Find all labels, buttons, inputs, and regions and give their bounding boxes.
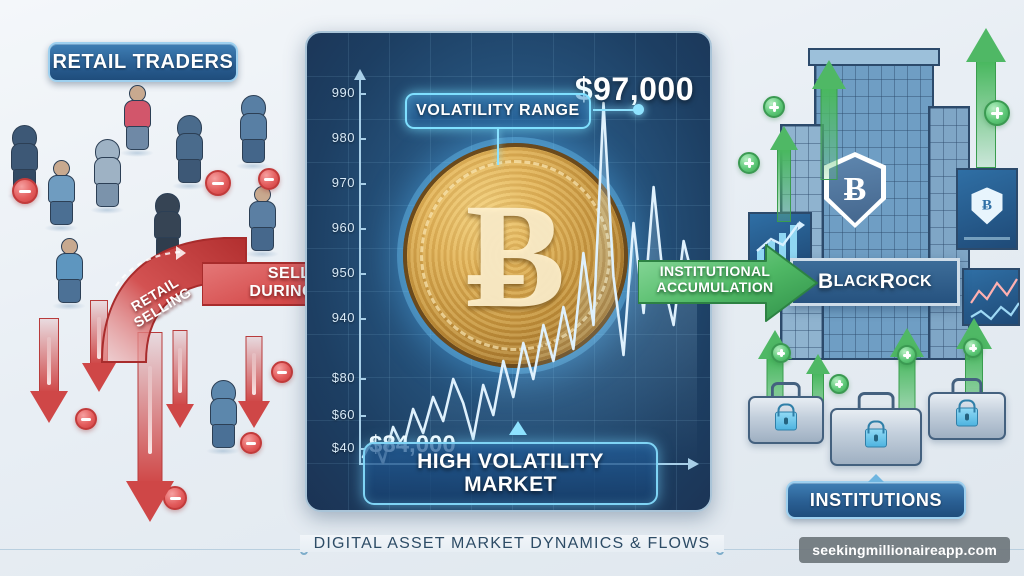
up-arrow-icon	[812, 60, 846, 180]
person-legs	[178, 159, 201, 183]
chart-y-axis	[359, 79, 361, 463]
y-axis-tick-label: 970	[313, 175, 355, 190]
bitcoin-shield-screen-glyph: Ƀ	[972, 187, 1003, 224]
infographic-canvas: RETAIL TRADERS RETAILSELLING	[0, 0, 1024, 576]
volatility-range-callout: VOLATILITY RANGE	[405, 93, 591, 129]
plus-glyph-v	[748, 158, 751, 168]
minus-badge-icon	[205, 170, 231, 196]
plus-glyph-v	[972, 344, 975, 353]
person-shadow	[206, 447, 240, 455]
up-arrow-icon	[770, 126, 798, 222]
plus-glyph-v	[838, 380, 841, 389]
grid-line-horizontal	[307, 377, 712, 378]
blackrock-r: R	[880, 270, 896, 294]
minus-badge-icon	[240, 432, 262, 454]
person-shadow	[52, 302, 86, 310]
person-body	[56, 253, 83, 281]
y-axis-tick-label: 940	[313, 310, 355, 325]
person-icon	[172, 118, 206, 186]
minus-badge-icon	[258, 168, 280, 190]
high-volatility-pointer	[509, 421, 527, 435]
person-body	[176, 133, 203, 161]
y-axis-tick-label: 990	[313, 85, 355, 100]
y-axis-tick-mark	[359, 228, 366, 230]
up-arrow-icon	[966, 28, 1006, 168]
person-body	[240, 113, 267, 141]
person-icon	[206, 383, 240, 451]
padlock-icon	[956, 407, 978, 426]
minus-glyph	[212, 182, 224, 185]
person-legs	[58, 279, 81, 303]
high-volatility-market-label: HIGH VOLATILITY MARKET	[363, 442, 658, 505]
y-axis-tick-label: $40	[313, 440, 355, 455]
person-body	[94, 157, 121, 185]
person-legs	[50, 201, 73, 225]
arrow-head	[82, 363, 116, 392]
blackrock-b: B	[818, 270, 834, 294]
person-shadow	[172, 182, 206, 190]
person-icon	[120, 85, 154, 153]
person-legs	[242, 139, 265, 163]
arrow-head	[126, 481, 174, 522]
person-icon	[52, 238, 86, 306]
arrow-head	[166, 404, 194, 428]
briefcase-body	[748, 396, 824, 444]
plus-glyph-v	[906, 351, 909, 360]
arrow-head	[238, 401, 270, 428]
retail-traders-badge: RETAIL TRADERS	[48, 42, 238, 82]
person-legs	[126, 126, 149, 150]
person-body	[210, 398, 237, 426]
hv-line-1: HIGH VOLATILITY	[417, 451, 604, 474]
y-axis-tick-label: 960	[313, 220, 355, 235]
padlock-icon	[775, 411, 797, 430]
y-axis-tick-label: $60	[313, 407, 355, 422]
person-shadow	[120, 149, 154, 157]
briefcase-icon	[830, 392, 922, 466]
y-axis-tick-label: 980	[313, 130, 355, 145]
plus-badge-icon	[771, 343, 791, 363]
person-icon	[90, 142, 124, 210]
screen-underline	[964, 237, 1010, 240]
person-shadow	[44, 224, 78, 232]
person-icon	[44, 160, 78, 228]
blackrock-ock: OCK	[895, 273, 932, 291]
plus-glyph-v	[780, 349, 783, 358]
plus-badge-icon	[963, 338, 983, 358]
callout-stem	[497, 129, 499, 165]
hv-line-2: MARKET	[464, 474, 557, 497]
y-axis-tick-mark	[359, 138, 366, 140]
blackrock-lack: LACK	[834, 273, 880, 291]
y-axis-tick-mark	[359, 273, 366, 275]
arrow-head	[30, 391, 68, 423]
arrow-head	[966, 28, 1006, 62]
y-axis-tick-mark	[359, 318, 366, 320]
briefcase-icon	[748, 382, 824, 444]
arrow-head	[806, 354, 830, 374]
arrow-inner-line	[148, 366, 152, 453]
footer-caption-text: DIGITAL ASSET MARKET DYNAMICS & FLOWS	[300, 535, 725, 552]
y-axis-tick-mark	[359, 93, 366, 95]
bitcoin-symbol: Ƀ	[407, 147, 624, 364]
y-axis-tick-mark	[359, 378, 366, 380]
bitcoin-shield-screen-icon: Ƀ	[956, 168, 1018, 250]
minus-glyph	[81, 418, 91, 421]
watermark: seekingmillionaireapp.com	[799, 537, 1010, 563]
price-high-label: $97,000	[575, 71, 694, 108]
arrow-head	[812, 60, 846, 89]
person-legs	[212, 424, 235, 448]
y-axis-tick-label: $80	[313, 370, 355, 385]
person-body	[249, 201, 276, 229]
arrow-inner-line	[47, 337, 51, 385]
institutional-accumulation-label: INSTITUTIONALACCUMULATION	[652, 263, 778, 295]
arrow-shaft	[821, 89, 838, 180]
plus-glyph-v	[773, 102, 776, 112]
plus-badge-icon	[738, 152, 760, 174]
minus-badge-icon	[75, 408, 97, 430]
briefcase-body	[830, 408, 922, 466]
plus-badge-icon	[897, 345, 917, 365]
minus-glyph	[246, 442, 256, 445]
person-shadow	[90, 206, 124, 214]
briefcase-icon	[928, 378, 1006, 440]
plus-badge-icon	[829, 374, 849, 394]
callout-endpoint-dot	[633, 104, 644, 115]
minus-badge-icon	[12, 178, 38, 204]
arrow-shaft	[777, 150, 791, 222]
minus-glyph	[264, 178, 274, 181]
callout-leader-line	[593, 109, 637, 111]
plus-badge-icon	[984, 100, 1010, 126]
minus-glyph	[277, 371, 287, 374]
institutional-accumulation-arrow: INSTITUTIONALACCUMULATION	[638, 243, 818, 323]
person-icon	[236, 98, 270, 166]
down-arrow-icon	[30, 318, 68, 423]
y-axis-tick-mark	[359, 415, 366, 417]
person-legs	[96, 183, 119, 207]
bitcoin-coin-icon: Ƀ	[403, 143, 628, 368]
person-body	[48, 175, 75, 203]
person-body	[124, 100, 151, 128]
arrow-head	[770, 126, 798, 150]
person-body	[11, 143, 38, 171]
padlock-icon	[865, 429, 887, 448]
plus-glyph-v	[996, 107, 999, 119]
minus-badge-icon	[271, 361, 293, 383]
y-axis-tick-mark	[359, 183, 366, 185]
institutions-badge: INSTITUTIONS	[786, 481, 966, 519]
briefcase-body	[928, 392, 1006, 440]
plus-badge-icon	[763, 96, 785, 118]
y-axis-tick-label: 950	[313, 265, 355, 280]
minus-glyph	[19, 190, 31, 193]
